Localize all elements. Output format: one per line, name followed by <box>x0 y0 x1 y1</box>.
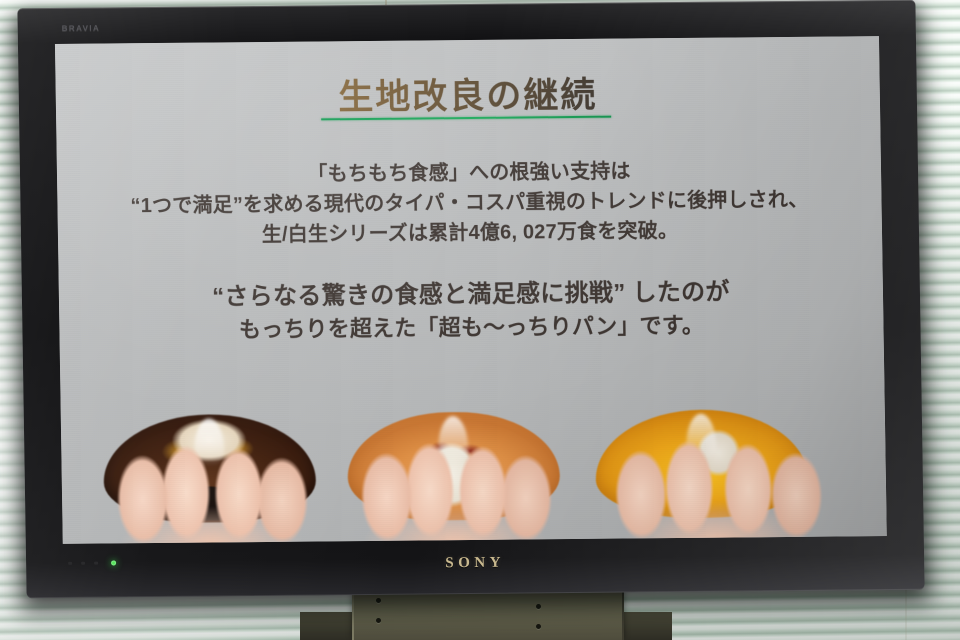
indicator-dot-icon <box>68 562 72 565</box>
plain-jam-bread-photo <box>333 395 575 544</box>
indicator-dot-icon <box>94 562 98 565</box>
bravia-logo: BRAVIA <box>62 24 101 33</box>
product-photo-row <box>60 366 887 544</box>
mount-bolt <box>536 624 541 629</box>
mount-bolt <box>376 618 381 623</box>
slide-paragraph-1: 「もちもち食感」への根強い支持は “1つで満足”を求める現代のタイパ・コスパ重視… <box>57 154 882 252</box>
slide-title: 生地改良の継続 <box>55 64 880 123</box>
indicator-dot-icon <box>81 562 85 565</box>
hand-holding-bread <box>581 434 851 544</box>
curry-melon-bread-photo <box>581 392 851 544</box>
slide-paragraph-2: “さらなる驚きの食感と満足感に挑戦” したのが もっちりを超えた「超も〜っちりパ… <box>59 274 884 348</box>
television: 生地改良の継続 「もちもち食感」への根強い支持は “1つで満足”を求める現代のタ… <box>17 0 924 598</box>
tv-screen: 生地改良の継続 「もちもち食感」への根強い支持は “1つで満足”を求める現代のタ… <box>55 36 887 544</box>
indicator-led-row <box>68 560 116 565</box>
screenshot-root: 生地改良の継続 「もちもち食感」への根強い支持は “1つで満足”を求める現代のタ… <box>0 0 960 640</box>
hand-holding-bread <box>333 437 575 544</box>
chocolate-bread-photo <box>89 397 331 544</box>
paragraph-2-line-2: もっちりを超えた「超も〜っちりパン」です。 <box>59 308 883 348</box>
power-led-icon <box>111 560 116 565</box>
hand-holding-bread <box>89 439 331 544</box>
presentation-slide: 生地改良の継続 「もちもち食感」への根強い支持は “1つで満足”を求める現代のタ… <box>55 36 887 544</box>
